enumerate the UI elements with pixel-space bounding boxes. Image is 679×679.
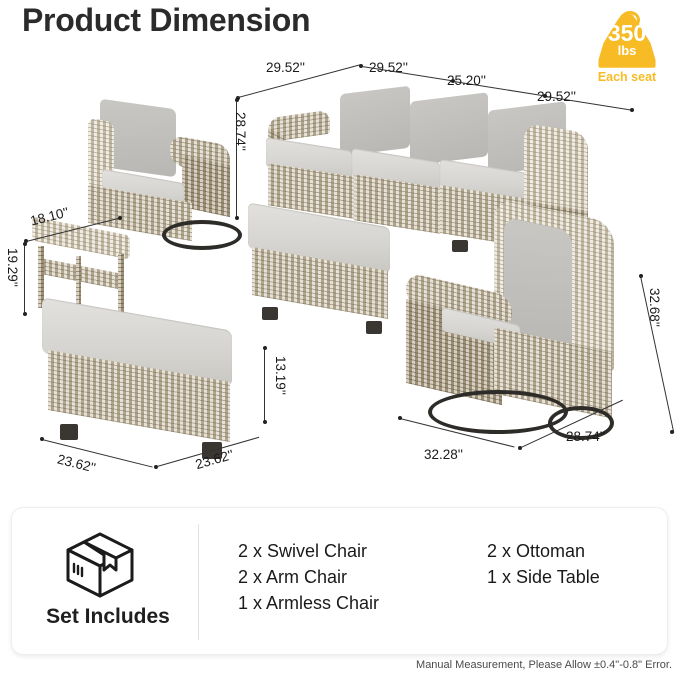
ottoman-front-illustration (42, 310, 258, 460)
dim-leader-ottoman-height (264, 348, 265, 422)
ottoman-center-foot-2 (366, 321, 382, 334)
ottoman-center-illustration (248, 215, 406, 335)
sofa-back-cushion-2 (410, 92, 488, 166)
dim-label-swivel-chair-depth: 28.74'' (566, 429, 605, 444)
dim-leader-side-table-height (24, 244, 25, 314)
dim-label-sofa-seat-width-1: 29.52'' (369, 60, 408, 75)
dim-label-sofa-seat-width-3: 29.52'' (537, 89, 576, 104)
set-includes-item: 1 x Armless Chair (238, 590, 379, 616)
side-table-leg-2 (118, 254, 124, 312)
badge-weight-number: 350 (588, 22, 666, 45)
dim-dot-table-h-top (23, 242, 27, 246)
dim-dot-sofa-top-4 (630, 108, 634, 112)
package-box-icon (63, 530, 137, 603)
arm-chair-swivel-base (162, 220, 242, 250)
dim-dot-ottoman-h-top (263, 346, 267, 350)
dim-dot-ottoman-h-bottom (263, 420, 267, 424)
ottoman-center-foot-1 (262, 307, 278, 320)
dim-dot-ottoman-left (40, 437, 44, 441)
panel-divider (198, 524, 199, 640)
dim-label-swivel-chair-width: 32.28'' (424, 447, 463, 462)
sofa-back-cushion-1 (340, 86, 410, 157)
set-includes-item: 2 x Arm Chair (238, 564, 379, 590)
set-includes-item: 1 x Side Table (487, 564, 600, 590)
dim-dot-table-w-right (118, 216, 122, 220)
dim-dot-sofa-height-top (235, 98, 239, 102)
side-table-shelf (40, 258, 124, 290)
dim-label-ottoman-height: 13.19'' (273, 356, 288, 395)
measurement-disclaimer: Manual Measurement, Please Allow ±0.4"-0… (0, 659, 672, 671)
dim-dot-table-h-bottom (23, 312, 27, 316)
dim-label-sofa-back-height: 28.74'' (233, 112, 248, 151)
page-title: Product Dimension (22, 2, 310, 39)
dim-label-swivel-chair-height: 32.68'' (647, 288, 662, 327)
set-includes-column-left: 2 x Swivel Chair 2 x Arm Chair 1 x Armle… (238, 538, 379, 616)
dim-dot-sofa-height-bottom (235, 216, 239, 220)
dim-label-side-table-height: 19.29'' (5, 248, 20, 287)
set-includes-item: 2 x Ottoman (487, 538, 600, 564)
set-includes-title: Set Includes (28, 605, 188, 629)
swivel-chair-illustration (398, 210, 646, 450)
dim-dot-swivel-h-top (639, 274, 643, 278)
dim-dot-swivel-w-left (398, 416, 402, 420)
badge-weight-unit: lbs (588, 44, 666, 57)
swivel-chair-swivel-ring (428, 390, 568, 434)
dim-label-armchair-top-depth: 29.52'' (266, 60, 305, 75)
ottoman-front-foot-1 (60, 424, 78, 440)
badge-caption: Each seat (588, 70, 666, 84)
product-dimension-infographic: Product Dimension 350 lbs Each seat (0, 0, 679, 679)
weight-capacity-badge: 350 lbs Each seat (588, 14, 666, 90)
set-includes-item: 2 x Swivel Chair (238, 538, 379, 564)
set-includes-column-right: 2 x Ottoman 1 x Side Table (487, 538, 600, 590)
dim-label-sofa-seat-width-2: 25.20'' (447, 73, 486, 88)
dim-dot-swivel-h-bottom (670, 430, 674, 434)
